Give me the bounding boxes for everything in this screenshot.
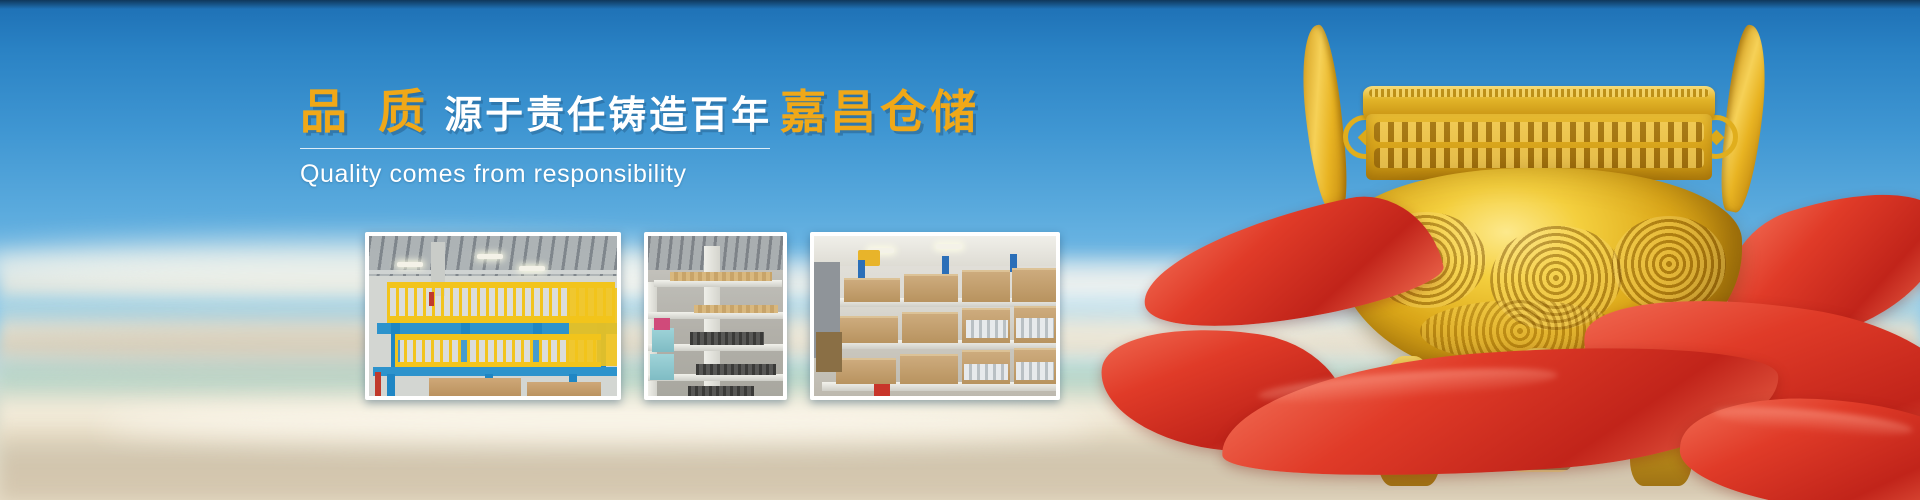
dragon-relief <box>1612 216 1726 312</box>
ding-leg <box>1630 356 1692 486</box>
ribbon <box>1216 333 1783 492</box>
cloud-wisp <box>1280 330 1920 376</box>
headline-middle: 源于责任铸造百年 <box>444 97 772 135</box>
photo-cantilever-rack <box>644 232 787 400</box>
dragon-relief <box>1485 219 1627 336</box>
headline-emphasis: 品 质 <box>300 88 434 135</box>
dragon-relief <box>1420 300 1620 362</box>
top-vignette <box>0 0 1920 9</box>
ding-leg <box>1378 356 1440 486</box>
promotional-banner: 品 质源于责任铸造百年嘉昌仓储 Quality comes from respo… <box>0 0 1920 500</box>
ding-leg <box>1498 348 1582 466</box>
ding-handle-right <box>1717 22 1772 216</box>
ribbon <box>1132 182 1448 350</box>
photo-shelving-cartons <box>810 232 1060 400</box>
ding-coin-ornament <box>1343 115 1387 159</box>
cloud-band <box>0 430 1920 500</box>
ribbon <box>1571 276 1920 487</box>
ding-body <box>1336 168 1742 382</box>
headline: 品 质源于责任铸造百年嘉昌仓储 <box>300 88 920 135</box>
ribbon <box>1676 387 1920 500</box>
subtitle: Quality comes from responsibility <box>300 160 920 189</box>
dragon-relief <box>1366 212 1486 308</box>
ribbon <box>1706 168 1920 363</box>
headline-divider <box>300 148 770 149</box>
brand-name: 嘉昌仓储 <box>780 89 980 135</box>
photo-strip <box>365 232 1060 400</box>
photo-mezzanine-racking <box>365 232 621 400</box>
ding-handle-left <box>1297 22 1352 216</box>
banner-text-block: 品 质源于责任铸造百年嘉昌仓储 Quality comes from respo… <box>300 88 920 189</box>
ding-coin-ornament <box>1694 115 1738 159</box>
golden-ding-decoration <box>1160 0 1920 500</box>
ding-neck <box>1366 114 1712 180</box>
ribbon <box>1093 313 1357 467</box>
ding-leg-rings <box>1506 430 1574 472</box>
cloud-wisp <box>100 404 1100 444</box>
ding-rim <box>1363 86 1715 120</box>
